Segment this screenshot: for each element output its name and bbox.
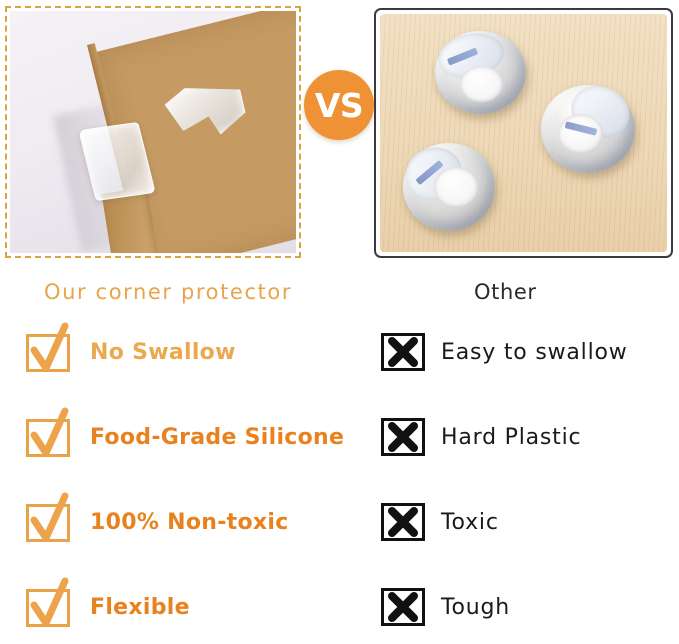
other-feature-label: Tough xyxy=(441,595,510,620)
header-our-product: Our corner protector xyxy=(44,280,292,304)
check-mark-icon xyxy=(26,332,72,372)
our-feature-cell: Flexible xyxy=(26,583,190,631)
comparison-row: No Swallow Easy to swallow xyxy=(0,324,679,409)
cross-mark-icon xyxy=(381,333,425,371)
other-feature-label: Easy to swallow xyxy=(441,340,628,365)
adhesive-pad xyxy=(558,114,603,154)
photo-comparison-row: VS xyxy=(0,0,679,266)
our-feature-label: Food-Grade Silicone xyxy=(90,425,344,450)
cross-mark-icon xyxy=(381,418,425,456)
comparison-row: 100% Non-toxic Toxic xyxy=(0,494,679,579)
cross-mark-icon xyxy=(381,503,425,541)
ball-corner-guard xyxy=(435,31,527,114)
our-feature-cell: Food-Grade Silicone xyxy=(26,413,344,461)
our-feature-label: No Swallow xyxy=(90,340,236,365)
ball-corner-guard xyxy=(403,143,495,231)
our-corner-protector-photo xyxy=(5,6,301,258)
adhesive-pad xyxy=(434,167,478,207)
our-feature-cell: No Swallow xyxy=(26,328,236,376)
comparison-rows: No Swallow Easy to swallow xyxy=(0,324,679,644)
other-photo-canvas xyxy=(380,14,667,252)
other-feature-cell: Hard Plastic xyxy=(381,413,581,461)
our-feature-label: 100% Non-toxic xyxy=(90,510,289,535)
product-comparison-infographic: VS Our corner protector Other No Swallow xyxy=(0,0,679,644)
check-mark-icon xyxy=(26,417,72,457)
comparison-headers: Our corner protector Other xyxy=(0,266,679,324)
comparison-table: Our corner protector Other No Swallow xyxy=(0,266,679,644)
ball-corner-guard xyxy=(541,85,636,173)
comparison-row: Flexible Tough xyxy=(0,579,679,644)
our-feature-cell: 100% Non-toxic xyxy=(26,498,289,546)
cross-mark-icon xyxy=(381,588,425,626)
our-photo-canvas xyxy=(10,11,296,253)
other-feature-cell: Toxic xyxy=(381,498,499,546)
header-other-product: Other xyxy=(474,280,537,304)
check-mark-icon xyxy=(26,587,72,627)
other-feature-cell: Tough xyxy=(381,583,510,631)
adhesive-pad xyxy=(460,66,503,103)
comparison-row: Food-Grade Silicone Hard Plastic xyxy=(0,409,679,494)
check-mark-icon xyxy=(26,502,72,542)
vs-badge-label: VS xyxy=(315,89,363,122)
other-corner-protector-photo xyxy=(374,8,673,258)
our-feature-label: Flexible xyxy=(90,595,190,620)
other-feature-label: Hard Plastic xyxy=(441,425,581,450)
other-feature-cell: Easy to swallow xyxy=(381,328,628,376)
other-feature-label: Toxic xyxy=(441,510,499,535)
vs-badge: VS xyxy=(304,70,374,140)
